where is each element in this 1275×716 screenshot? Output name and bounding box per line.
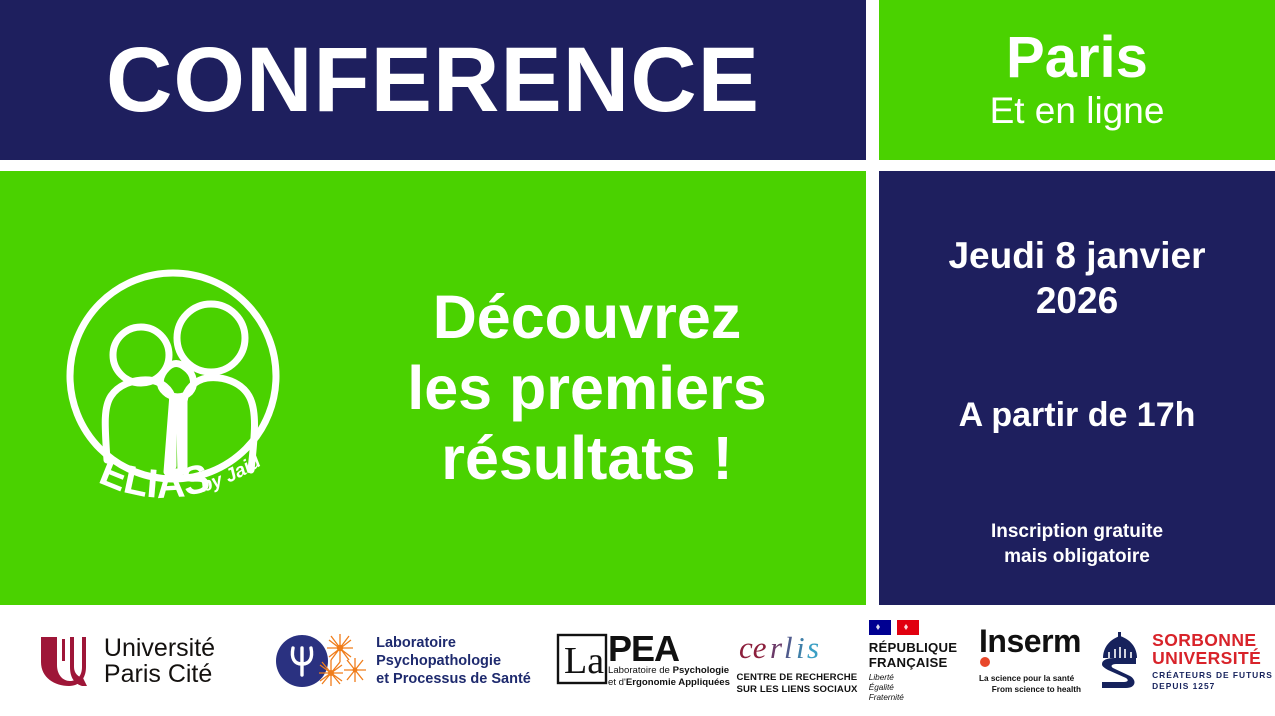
lapea-pea-letters: PEA [608, 633, 730, 665]
headline: Découvrez les premiers résultats ! [360, 282, 866, 494]
registration-note-line-1: Inscription gratuite [991, 520, 1163, 545]
rf-line-1: RÉPUBLIQUE [869, 641, 957, 655]
logo-republique-francaise: RÉPUBLIQUE FRANÇAISE Liberté Égalité Fra… [860, 606, 966, 716]
universite-paris-cite-name: Université Paris Cité [104, 635, 215, 687]
elias-logo-graphic: ELIAS by Jaid [55, 258, 305, 518]
city-label: Paris [1006, 28, 1148, 89]
inserm-dot-icon [979, 656, 1079, 669]
headline-line-2: les premiers [360, 353, 814, 424]
logo-laboratoire-psychopathologie: Laboratoire Psychopathologie et Processu… [252, 606, 552, 716]
lpps-line-3: et Processus de Santé [376, 670, 531, 688]
upc-line-1: Université [104, 635, 215, 661]
republique-francaise-name: RÉPUBLIQUE FRANÇAISE [869, 641, 957, 670]
french-flag-icon [869, 619, 923, 636]
lapea-subtitle-1: Laboratoire de Psychologie [608, 665, 730, 677]
cerlis-sub-line-1: CENTRE DE RECHERCHE [737, 672, 858, 683]
cerlis-ce: ce [739, 630, 767, 665]
inserm-tagline-fr: La science pour la santé [979, 674, 1081, 684]
rf-line-2: FRANÇAISE [869, 656, 957, 670]
lapea-subtitle-2: et d'Ergonomie Appliquées [608, 677, 730, 689]
registration-note-line-2: mais obligatoire [991, 545, 1163, 570]
rf-motto-3: Fraternité [869, 693, 957, 703]
logo-cerlis: ce r l i s CENTRE DE RECHERCHE SUR LES L… [734, 606, 860, 716]
elias-wordmark: ELIAS [94, 450, 214, 508]
lapea-la-icon: La [556, 633, 608, 689]
conference-banner: CONFERENCE [0, 0, 866, 160]
sorbonne-name: SORBONNE UNIVERSITÉ [1152, 631, 1273, 668]
lpps-icon [273, 630, 369, 692]
logo-hands [160, 364, 193, 397]
registration-note: Inscription gratuite mais obligatoire [991, 520, 1163, 569]
inserm-wordmark: Inserm [979, 627, 1081, 656]
sorbonne-sub-2: DEPUIS 1257 [1152, 681, 1273, 692]
logo-universite-paris-cite: Université Paris Cité [0, 606, 252, 716]
headline-line-3: résultats ! [360, 423, 814, 494]
rf-motto-1: Liberté [869, 673, 957, 683]
event-time: A partir de 17h [959, 395, 1196, 436]
upc-line-2: Paris Cité [104, 661, 215, 687]
cerlis-s: s [807, 630, 819, 665]
logo-lapea: La PEA Laboratoire de Psychologie et d'E… [552, 606, 734, 716]
cerlis-sub-line-2: SUR LES LIENS SOCIAUX [737, 684, 858, 695]
event-info-panel: Jeudi 8 janvier 2026 A partir de 17h Ins… [879, 171, 1275, 605]
sorbonne-line-2: UNIVERSITÉ [1152, 649, 1273, 667]
sorbonne-dome-icon [1096, 632, 1144, 690]
inserm-tagline-en: From science to health [979, 685, 1081, 695]
conference-poster: CONFERENCE Paris Et en ligne [0, 0, 1275, 716]
cerlis-subtitle: CENTRE DE RECHERCHE SUR LES LIENS SOCIAU… [737, 672, 858, 694]
lapea-la-letters: La [564, 640, 604, 682]
logo-sorbonne-universite: SORBONNE UNIVERSITÉ CRÉATEURS DE FUTURS … [1094, 606, 1275, 716]
sorbonne-sub-1: CRÉATEURS DE FUTURS [1152, 670, 1273, 681]
lpps-name: Laboratoire Psychopathologie et Processu… [376, 634, 531, 689]
lpps-line-1: Laboratoire [376, 634, 531, 652]
lapea-sub1-a: Laboratoire de [608, 665, 673, 676]
location-banner: Paris Et en ligne [879, 0, 1275, 160]
inserm-tagline: La science pour la santé From science to… [979, 674, 1081, 695]
republique-francaise-motto: Liberté Égalité Fraternité [869, 673, 957, 703]
lapea-sub1-b: Psychologie [673, 665, 730, 676]
cerlis-l: l [784, 630, 793, 665]
sorbonne-subtitle: CRÉATEURS DE FUTURS DEPUIS 1257 [1152, 670, 1273, 691]
rf-motto-2: Égalité [869, 683, 957, 693]
online-label: Et en ligne [990, 91, 1165, 132]
logo-head-right [177, 304, 245, 372]
lapea-sub2-a: et d' [608, 677, 626, 688]
elias-logo: ELIAS by Jaid [0, 258, 360, 518]
lpps-line-2: Psychopathologie [376, 652, 531, 670]
cerlis-wordmark-icon: ce r l i s [737, 627, 849, 667]
main-panel: ELIAS by Jaid Découvrez les premiers rés… [0, 171, 866, 605]
page-title: CONFERENCE [106, 34, 760, 126]
universite-paris-cite-icon [37, 631, 91, 691]
event-date: Jeudi 8 janvier 2026 [879, 233, 1275, 323]
headline-line-1: Découvrez [360, 282, 814, 353]
cerlis-r: r [770, 630, 783, 665]
cerlis-i: i [796, 630, 805, 665]
lapea-sub2-b: Ergonomie Appliquées [626, 677, 730, 688]
logo-inserm: Inserm La science pour la santé From sci… [966, 606, 1094, 716]
partner-logo-strip: Université Paris Cité [0, 606, 1275, 716]
sorbonne-line-1: SORBONNE [1152, 631, 1273, 649]
